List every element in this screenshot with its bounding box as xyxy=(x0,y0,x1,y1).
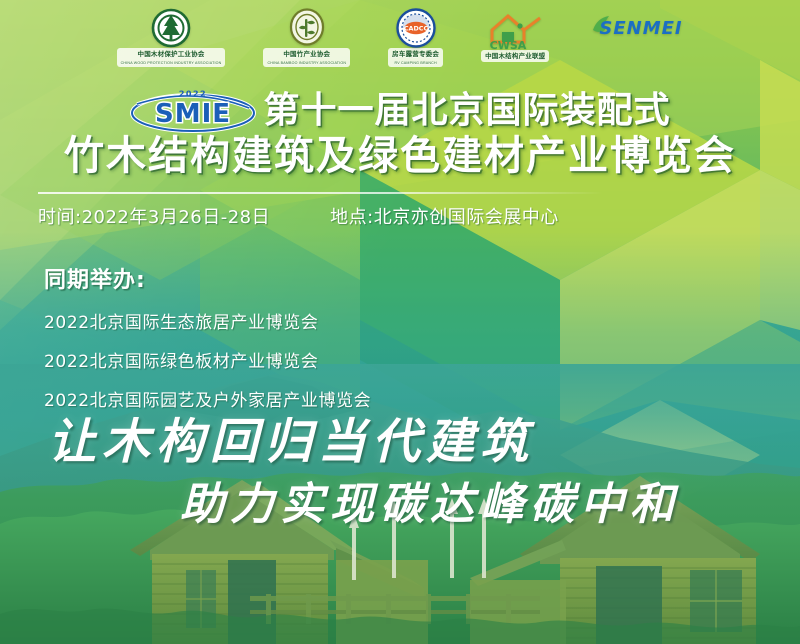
senmei-leaf-icon: SENMEI xyxy=(587,8,683,42)
event-meta-row: 时间:2022年3月26日-28日 地点:北京亦创国际会展中心 xyxy=(38,203,559,229)
logo-senmei: SENMEI xyxy=(587,8,683,66)
logo-label-cn: 房车露营专委会 xyxy=(392,51,439,59)
concurrent-event-item: 2022北京国际园艺及户外家居产业博览会 xyxy=(44,386,371,411)
concurrent-event-item: 2022北京国际生态旅居产业博览会 xyxy=(44,308,371,333)
concurrent-events-block: 同期举办: 2022北京国际生态旅居产业博览会 2022北京国际绿色板材产业博览… xyxy=(44,262,371,425)
concurrent-events-title: 同期举办: xyxy=(44,262,371,294)
logo-label-en: RV CAMPING BRANCH xyxy=(394,61,436,66)
concurrent-event-item: 2022北京国际绿色板材产业博览会 xyxy=(44,347,371,372)
logo-label-cn: 中国木结构产业联盟 xyxy=(485,53,545,61)
logo-caption-plate: 中国木结构产业联盟 xyxy=(481,50,549,62)
partner-logo-strip: 中国木材保护工业协会 CHINA WOOD PROTECTION INDUSTR… xyxy=(0,0,800,74)
svg-text:SMIE: SMIE xyxy=(155,99,231,129)
headline-line-2: 竹木结构建筑及绿色建材产业博览会 xyxy=(0,132,800,180)
cwsa-house-icon: CWSA CWSA xyxy=(484,8,546,50)
headline-line-1: 第十一届北京国际装配式 xyxy=(263,89,670,133)
smie-logo: 2022 SMIE xyxy=(129,88,257,134)
svg-text:SENMEI: SENMEI xyxy=(600,18,683,39)
bamboo-oval-icon xyxy=(288,8,326,48)
logo-bamboo-association: 中国竹产业协会 CHINA BAMBOO INDUSTRY ASSOCIATIO… xyxy=(263,8,350,66)
logo-label-en: CHINA BAMBOO INDUSTRY ASSOCIATION xyxy=(267,61,346,66)
logo-rv-camping-committee: CADCC 房车露营专委会 RV CAMPING BRANCH xyxy=(388,8,443,66)
event-date: 时间:2022年3月26日-28日 xyxy=(38,203,270,229)
slogan-block: 让木构回归当代建筑 助力实现碳达峰碳中和 xyxy=(0,412,800,534)
logo-label-cn: 中国竹产业协会 xyxy=(283,51,330,59)
headline-block: 2022 SMIE 第十一届北京国际装配式 竹木结构建筑及绿色建材产业博览会 xyxy=(0,88,800,180)
logo-china-wood-structure-industry-alliance: CWSA CWSA 中国木结构产业联盟 xyxy=(481,8,549,66)
logo-label-en: CHINA WOOD PROTECTION INDUSTRY ASSOCIATI… xyxy=(121,61,222,66)
logo-caption-plate: 中国木材保护工业协会 CHINA WOOD PROTECTION INDUSTR… xyxy=(117,48,226,67)
svg-text:CADCC: CADCC xyxy=(403,24,428,32)
svg-text:CWSA: CWSA xyxy=(490,39,527,50)
logo-label-cn: 中国木材保护工业协会 xyxy=(138,51,205,59)
logo-china-wood-protection-industry-association: 中国木材保护工业协会 CHINA WOOD PROTECTION INDUSTR… xyxy=(117,8,226,66)
event-poster: 中国木材保护工业协会 CHINA WOOD PROTECTION INDUSTR… xyxy=(0,0,800,644)
logo-caption-plate: 房车露营专委会 RV CAMPING BRANCH xyxy=(388,48,443,67)
logo-caption-plate: 中国竹产业协会 CHINA BAMBOO INDUSTRY ASSOCIATIO… xyxy=(263,48,350,67)
event-venue: 地点:北京亦创国际会展中心 xyxy=(330,203,559,229)
slogan-line-1: 让木构回归当代建筑 xyxy=(0,412,800,472)
svg-text:2022: 2022 xyxy=(179,90,207,99)
title-divider xyxy=(38,192,603,194)
tree-in-shield-icon xyxy=(151,8,191,48)
title-row: 2022 SMIE 第十一届北京国际装配式 xyxy=(0,88,800,134)
cadcc-seal-icon: CADCC xyxy=(396,8,436,48)
slogan-line-2: 助力实现碳达峰碳中和 xyxy=(0,476,800,534)
